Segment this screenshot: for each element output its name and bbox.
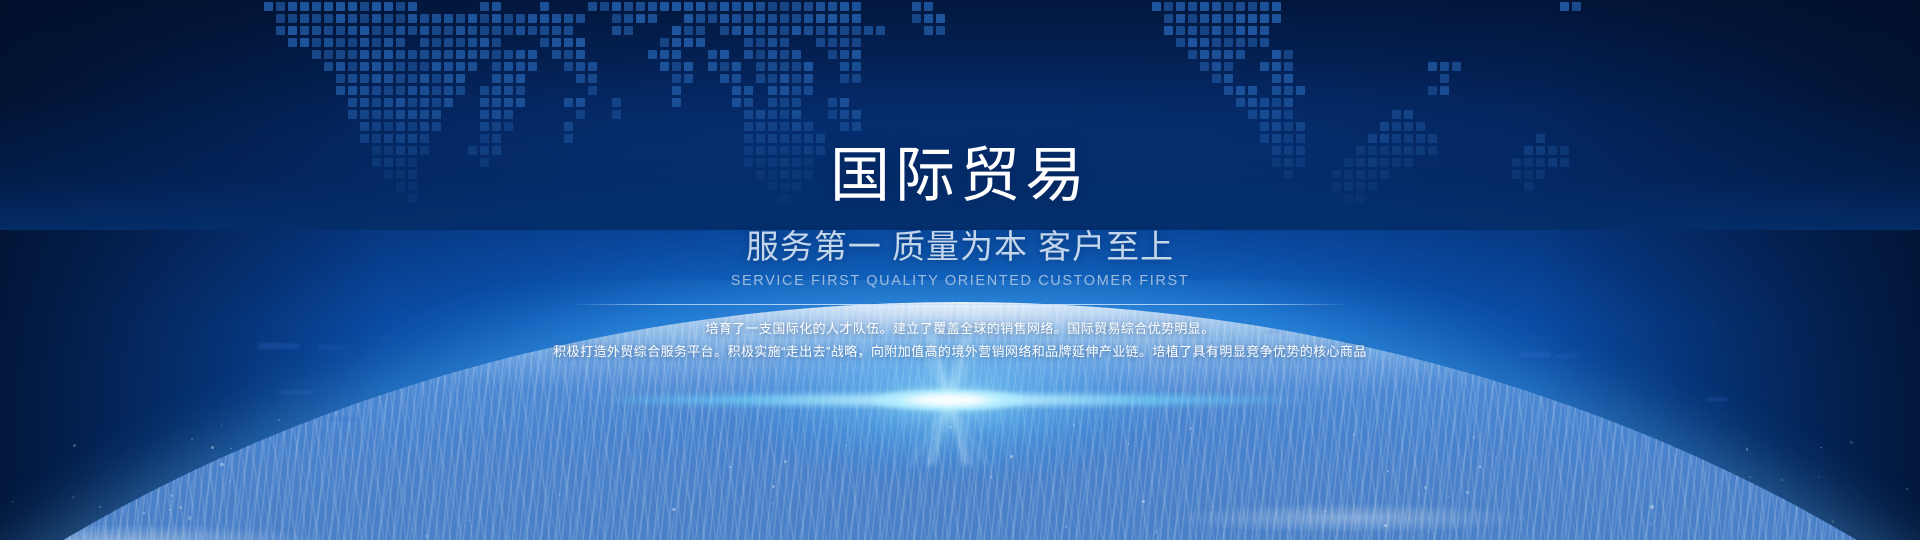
banner-title: 国际贸易 (0, 144, 1920, 208)
banner-description-line-2: 积极打造外贸综合服务平台。积极实施“走出去”战略，向附加值高的境外营销网络和品牌… (0, 340, 1920, 363)
banner-subtitle-en: SERVICE FIRST QUALITY ORIENTED CUSTOMER … (0, 273, 1920, 289)
lens-flare-core (874, 388, 1024, 412)
international-trade-banner: 国际贸易 服务第一 质量为本 客户至上 SERVICE FIRST QUALIT… (0, 0, 1920, 540)
banner-divider (570, 304, 1350, 305)
banner-content: 国际贸易 服务第一 质量为本 客户至上 SERVICE FIRST QUALIT… (0, 0, 1920, 363)
banner-description-line-1: 培育了一支国际化的人才队伍。建立了覆盖全球的销售网络。国际贸易综合优势明显。 (0, 317, 1920, 340)
banner-description: 培育了一支国际化的人才队伍。建立了覆盖全球的销售网络。国际贸易综合优势明显。 积… (0, 317, 1920, 363)
banner-subtitle-cn: 服务第一 质量为本 客户至上 (0, 220, 1920, 268)
